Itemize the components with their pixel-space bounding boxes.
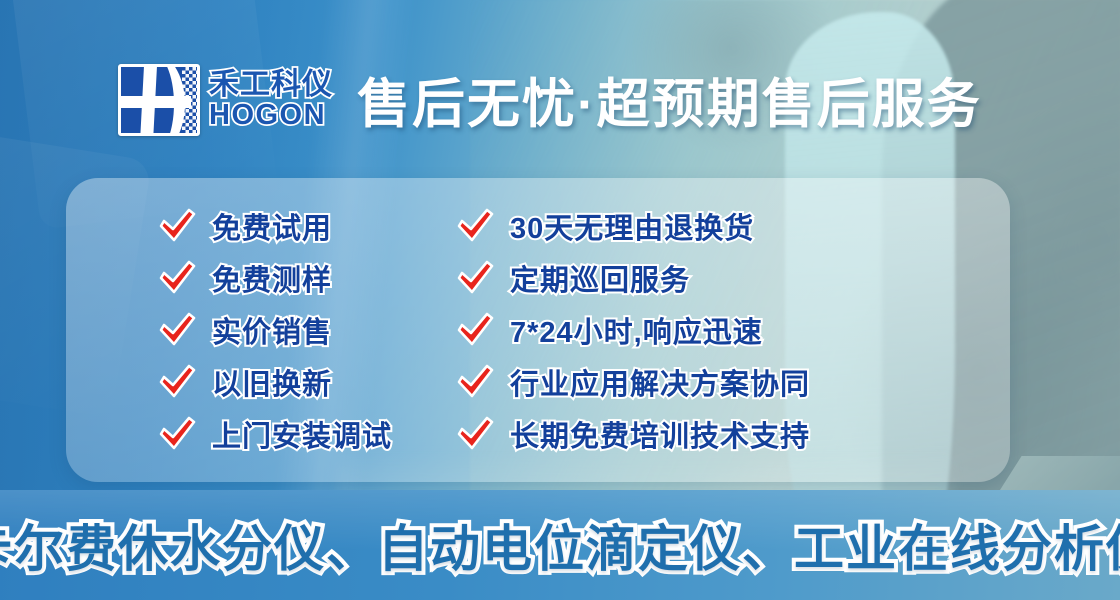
red-checkmark-icon bbox=[456, 260, 494, 296]
feature-item: 免费试用 bbox=[158, 204, 426, 248]
features-card: 免费试用 免费测样 实价销售 以旧换新 bbox=[66, 178, 1010, 482]
red-checkmark-icon bbox=[456, 364, 494, 400]
red-checkmark-icon bbox=[456, 208, 494, 244]
page-title: 售后无忧·超预期售后服务 bbox=[357, 62, 982, 138]
service-promo-banner: 禾工科仪 HOGON 售后无忧·超预期售后服务 免费试用 免费测样 bbox=[0, 0, 1120, 600]
feature-item: 长期免费培训技术支持 bbox=[456, 412, 1010, 456]
feature-label: 长期免费培训技术支持 bbox=[510, 413, 810, 455]
feature-item: 免费测样 bbox=[158, 256, 426, 300]
feature-item: 7*24小时,响应迅速 bbox=[456, 308, 1010, 352]
red-checkmark-icon bbox=[456, 312, 494, 348]
features-column-right: 30天无理由退换货 定期巡回服务 7*24小时,响应迅速 行业应用解决方案协同 bbox=[426, 204, 1010, 456]
features-column-left: 免费试用 免费测样 实价销售 以旧换新 bbox=[66, 204, 426, 456]
feature-item: 行业应用解决方案协同 bbox=[456, 360, 1010, 404]
feature-label: 30天无理由退换货 bbox=[510, 205, 754, 247]
feature-label: 免费试用 bbox=[212, 205, 332, 247]
banner-header: 禾工科仪 HOGON 售后无忧·超预期售后服务 bbox=[0, 52, 1120, 148]
brand-logo: 禾工科仪 HOGON bbox=[118, 64, 333, 136]
feature-item: 上门安装调试 bbox=[158, 412, 426, 456]
feature-label: 以旧换新 bbox=[212, 361, 332, 403]
red-checkmark-icon bbox=[158, 416, 196, 452]
red-checkmark-icon bbox=[158, 312, 196, 348]
feature-label: 免费测样 bbox=[212, 257, 332, 299]
feature-item: 以旧换新 bbox=[158, 360, 426, 404]
feature-item: 实价销售 bbox=[158, 308, 426, 352]
brand-wordmark: 禾工科仪 HOGON bbox=[209, 70, 333, 130]
hogon-flag-cross-icon bbox=[118, 64, 200, 136]
feature-label: 实价销售 bbox=[212, 309, 332, 351]
red-checkmark-icon bbox=[456, 416, 494, 452]
feature-item: 30天无理由退换货 bbox=[456, 204, 1010, 248]
feature-item: 定期巡回服务 bbox=[456, 256, 1010, 300]
feature-label: 行业应用解决方案协同 bbox=[510, 361, 810, 403]
product-list-text: 卡尔费休水分仪、自动电位滴定仪、工业在线分析仪 bbox=[0, 509, 1120, 581]
product-list-strip: 卡尔费休水分仪、自动电位滴定仪、工业在线分析仪 bbox=[0, 490, 1120, 600]
feature-label: 7*24小时,响应迅速 bbox=[510, 309, 763, 351]
red-checkmark-icon bbox=[158, 208, 196, 244]
red-checkmark-icon bbox=[158, 364, 196, 400]
brand-name-en: HOGON bbox=[209, 101, 333, 129]
feature-label: 上门安装调试 bbox=[212, 413, 392, 455]
brand-name-cn: 禾工科仪 bbox=[209, 70, 333, 99]
feature-label: 定期巡回服务 bbox=[510, 257, 690, 299]
red-checkmark-icon bbox=[158, 260, 196, 296]
